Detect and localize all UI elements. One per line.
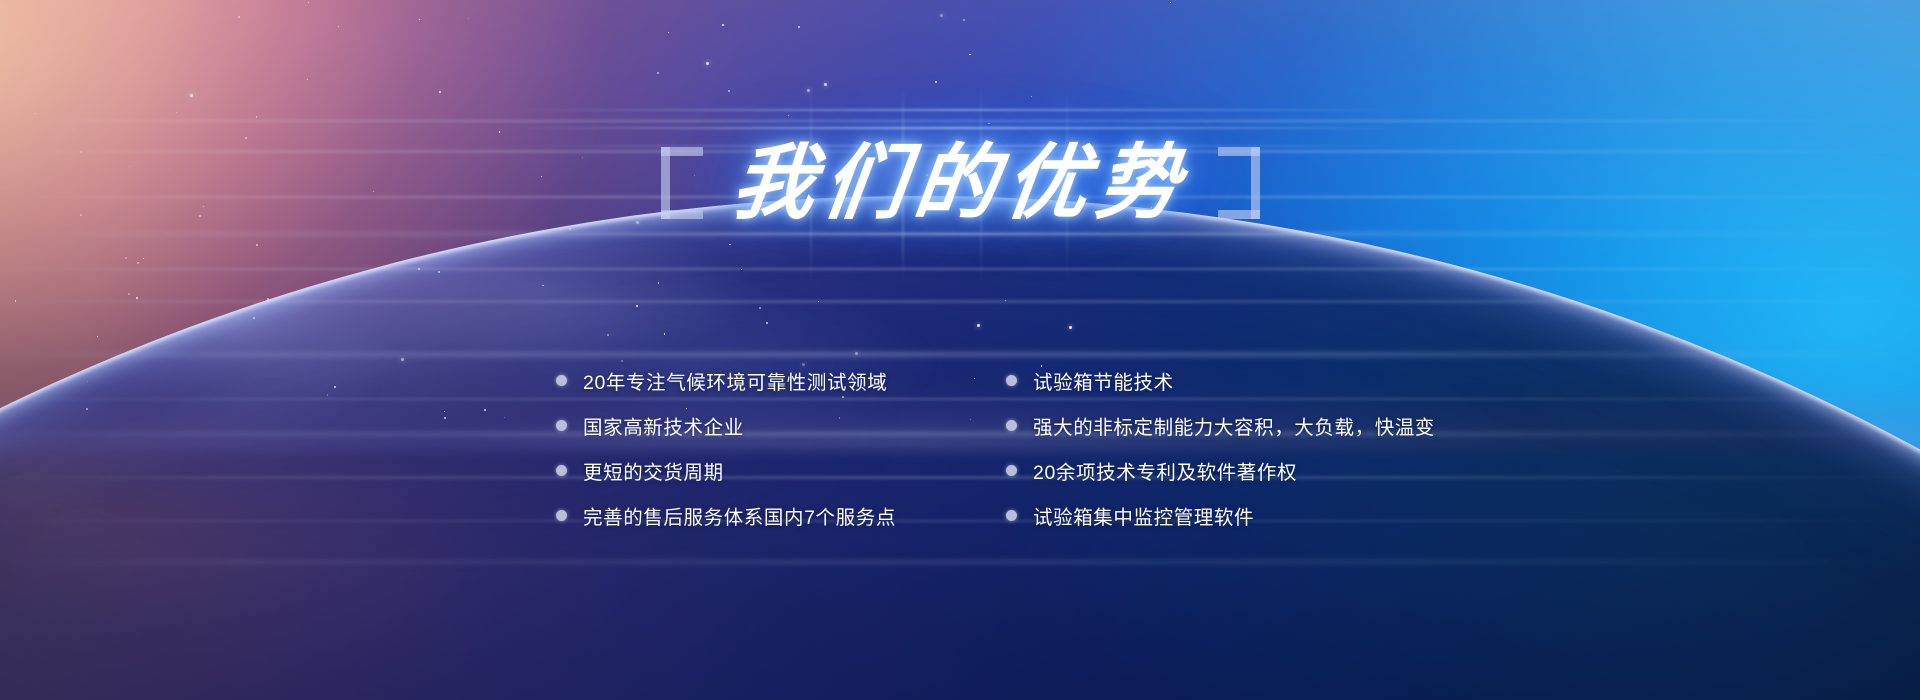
bullet-dot-icon <box>556 465 567 476</box>
page-title: 我们的优势 <box>723 142 1196 224</box>
advantages-right-column: 试验箱节能技术 强大的非标定制能力大容积，大负载，快温变 20余项技术专利及软件… <box>1006 358 1556 538</box>
list-item-label: 更短的交货周期 <box>583 456 724 485</box>
advantages-banner: 我们的优势 20年专注气候环境可靠性测试领域 国家高新技术企业 更短的交货周期 … <box>0 0 1920 700</box>
bullet-dot-icon <box>556 375 567 386</box>
list-item: 20年专注气候环境可靠性测试领域 <box>556 358 1006 403</box>
banner-title-block: 我们的优势 <box>0 118 1920 248</box>
list-item-label: 试验箱集中监控管理软件 <box>1033 501 1254 530</box>
advantages-columns: 20年专注气候环境可靠性测试领域 国家高新技术企业 更短的交货周期 完善的售后服… <box>556 358 1556 538</box>
bullet-dot-icon <box>1006 375 1017 386</box>
advantages-left-column: 20年专注气候环境可靠性测试领域 国家高新技术企业 更短的交货周期 完善的售后服… <box>556 358 1006 538</box>
list-item-label: 国家高新技术企业 <box>583 411 744 440</box>
bracket-left-icon <box>661 147 703 219</box>
bullet-dot-icon <box>556 420 567 431</box>
bullet-dot-icon <box>1006 420 1017 431</box>
list-item: 试验箱节能技术 <box>1006 358 1556 403</box>
list-item-label: 试验箱节能技术 <box>1033 366 1174 395</box>
list-item-label: 20余项技术专利及软件著作权 <box>1033 456 1297 485</box>
list-item-label: 完善的售后服务体系国内7个服务点 <box>583 501 896 530</box>
list-item: 更短的交货周期 <box>556 448 1006 493</box>
bullet-dot-icon <box>1006 465 1017 476</box>
list-item-label: 强大的非标定制能力大容积，大负载，快温变 <box>1033 411 1435 440</box>
bullet-dot-icon <box>1006 510 1017 521</box>
list-item: 国家高新技术企业 <box>556 403 1006 448</box>
bracket-right-icon <box>1218 147 1260 219</box>
bullet-dot-icon <box>556 510 567 521</box>
list-item: 试验箱集中监控管理软件 <box>1006 493 1556 538</box>
list-item: 完善的售后服务体系国内7个服务点 <box>556 493 1006 538</box>
list-item-label: 20年专注气候环境可靠性测试领域 <box>583 366 887 395</box>
list-item: 20余项技术专利及软件著作权 <box>1006 448 1556 493</box>
list-item: 强大的非标定制能力大容积，大负载，快温变 <box>1006 403 1556 448</box>
